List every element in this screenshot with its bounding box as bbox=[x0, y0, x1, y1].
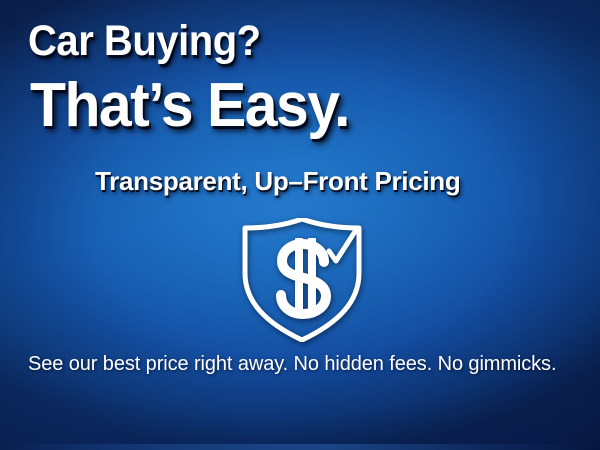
headline-primary: Car Buying? bbox=[28, 17, 261, 66]
tagline: See our best price right away. No hidden… bbox=[28, 353, 556, 376]
subheadline: Transparent, Up–Front Pricing bbox=[95, 166, 460, 197]
dollar-sign bbox=[281, 238, 326, 316]
bottom-edge-sheen bbox=[0, 444, 600, 450]
checkmark-icon bbox=[329, 230, 356, 261]
shield-dollar-check-icon bbox=[240, 218, 366, 342]
headline-secondary: That’s Easy. bbox=[30, 70, 349, 141]
promo-banner: Car Buying? That’s Easy. Transparent, Up… bbox=[0, 0, 600, 450]
